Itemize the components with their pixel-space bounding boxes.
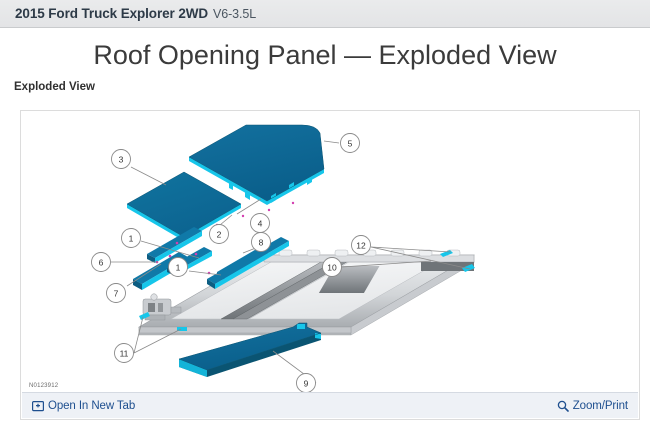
callout-2[interactable]: 2 [210, 225, 229, 244]
callout-6[interactable]: 6 [92, 253, 111, 272]
svg-text:2: 2 [217, 230, 222, 240]
zoom-print-button[interactable]: Zoom/Print [557, 400, 628, 412]
callout-7[interactable]: 7 [107, 284, 126, 303]
svg-text:9: 9 [304, 379, 309, 389]
callout-12[interactable]: 12 [352, 236, 371, 255]
vehicle-name: 2015 Ford Truck Explorer 2WD [15, 6, 208, 21]
new-tab-icon [32, 400, 44, 412]
callout-5[interactable]: 5 [341, 134, 360, 153]
zoom-print-label: Zoom/Print [573, 400, 628, 412]
svg-text:4: 4 [258, 219, 263, 229]
svg-text:7: 7 [114, 289, 119, 299]
callout-4[interactable]: 4 [251, 214, 270, 233]
svg-text:3: 3 [119, 155, 124, 165]
exploded-view-panel: 5 3 4 2 1 1 6 [20, 110, 640, 420]
vehicle-header-bar: 2015 Ford Truck Explorer 2WD V6-3.5L [0, 0, 650, 28]
search-icon [557, 400, 569, 412]
svg-text:1: 1 [129, 234, 134, 244]
open-in-new-tab-button[interactable]: Open In New Tab [32, 400, 135, 412]
section-label: Exploded View [14, 81, 95, 93]
callout-1a[interactable]: 1 [122, 229, 141, 248]
svg-text:10: 10 [327, 263, 337, 273]
vehicle-engine: V6-3.5L [213, 7, 256, 21]
svg-text:5: 5 [348, 139, 353, 149]
svg-text:1: 1 [176, 263, 181, 273]
callout-9[interactable]: 9 [297, 374, 316, 393]
callout-3[interactable]: 3 [112, 150, 131, 169]
svg-text:12: 12 [356, 241, 366, 251]
exploded-view-illustration[interactable]: 5 3 4 2 1 1 6 [21, 111, 639, 392]
svg-text:6: 6 [99, 258, 104, 268]
callout-8[interactable]: 8 [252, 233, 271, 252]
open-in-new-tab-label: Open In New Tab [48, 400, 135, 412]
svg-text:11: 11 [120, 349, 129, 359]
callout-10[interactable]: 10 [323, 258, 342, 277]
callout-1b[interactable]: 1 [169, 258, 188, 277]
diagram-watermark: N0123912 [29, 383, 58, 389]
callout-11[interactable]: 11 [115, 344, 134, 363]
diagram-action-bar: Open In New Tab Zoom/Print [22, 392, 638, 418]
page-title: Roof Opening Panel — Exploded View [0, 40, 650, 71]
svg-text:8: 8 [259, 238, 264, 248]
